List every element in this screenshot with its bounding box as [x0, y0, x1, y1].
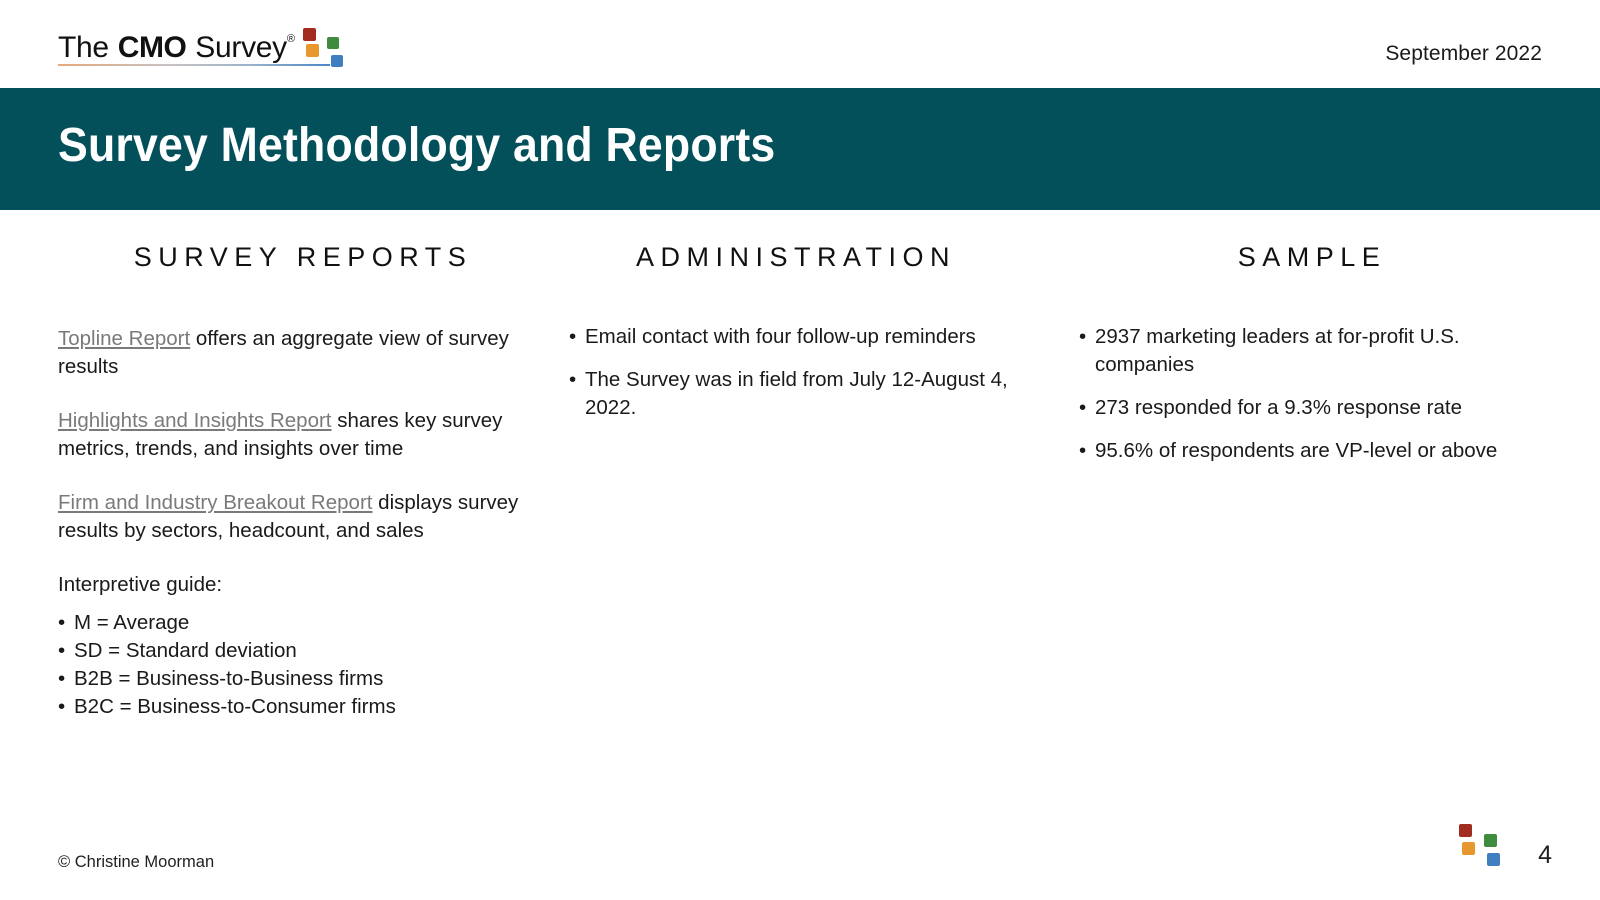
copyright-notice: © Christine Moorman [58, 853, 214, 872]
logo-word-cmo: CMO [118, 31, 187, 64]
cmo-survey-logo: TheCMOSurvey® [58, 26, 348, 72]
footer-square-red-icon [1459, 824, 1472, 837]
report-paragraph-breakout: Firm and Industry Breakout Report displa… [58, 489, 538, 545]
list-item: 95.6% of respondents are VP-level or abo… [1078, 437, 1540, 465]
link-topline-report[interactable]: Topline Report [58, 327, 190, 350]
title-banner: Survey Methodology and Reports [0, 88, 1600, 210]
footer-square-blue-icon [1487, 853, 1500, 866]
administration-body: Email contact with four follow-up remind… [568, 323, 1018, 422]
page-header: TheCMOSurvey® September 2022 [0, 0, 1600, 88]
list-item: SD = Standard deviation [58, 637, 538, 665]
list-item: B2B = Business-to-Business firms [58, 665, 538, 693]
sample-body: 2937 marketing leaders at for-profit U.S… [1078, 323, 1540, 465]
column-heading-sample: SAMPLE [1078, 210, 1540, 273]
column-sample: SAMPLE 2937 marketing leaders at for-pro… [1078, 210, 1540, 465]
column-heading-survey-reports: SURVEY REPORTS [58, 210, 538, 273]
content-area: SURVEY REPORTS Topline Report offers an … [0, 210, 1600, 810]
list-item: Email contact with four follow-up remind… [568, 323, 1018, 351]
survey-reports-body: Topline Report offers an aggregate view … [58, 325, 538, 721]
list-item: The Survey was in field from July 12-Aug… [568, 366, 1018, 422]
column-heading-administration: ADMINISTRATION [568, 210, 1018, 273]
sample-list: 2937 marketing leaders at for-profit U.S… [1078, 323, 1540, 465]
interpretive-guide-label: Interpretive guide: [58, 571, 538, 599]
page-number: 4 [1538, 841, 1552, 870]
report-paragraph-highlights: Highlights and Insights Report shares ke… [58, 407, 538, 463]
footer-squares-mark [1444, 824, 1500, 868]
report-paragraph-topline: Topline Report offers an aggregate view … [58, 325, 538, 381]
logo-square-orange-icon [306, 44, 319, 57]
interpretive-guide-list: M = Average SD = Standard deviation B2B … [58, 609, 538, 721]
link-highlights-and-insights-report[interactable]: Highlights and Insights Report [58, 409, 332, 432]
list-item: B2C = Business-to-Consumer firms [58, 693, 538, 721]
logo-word-the: The [58, 31, 109, 64]
logo-word-survey: Survey [195, 31, 287, 64]
list-item: 273 responded for a 9.3% response rate [1078, 394, 1540, 422]
logo-squares-mark [290, 24, 346, 68]
logo-square-red-icon [303, 28, 316, 41]
survey-date: September 2022 [1385, 42, 1542, 66]
logo-square-blue-icon [331, 55, 343, 67]
footer-square-orange-icon [1462, 842, 1475, 855]
page-title: Survey Methodology and Reports [58, 118, 775, 173]
administration-list: Email contact with four follow-up remind… [568, 323, 1018, 422]
list-item: M = Average [58, 609, 538, 637]
column-administration: ADMINISTRATION Email contact with four f… [568, 210, 1018, 422]
footer-square-green-icon [1484, 834, 1497, 847]
link-firm-and-industry-breakout-report[interactable]: Firm and Industry Breakout Report [58, 491, 372, 514]
logo-square-green-icon [327, 37, 339, 49]
list-item: 2937 marketing leaders at for-profit U.S… [1078, 323, 1540, 379]
column-survey-reports: SURVEY REPORTS Topline Report offers an … [58, 210, 538, 721]
